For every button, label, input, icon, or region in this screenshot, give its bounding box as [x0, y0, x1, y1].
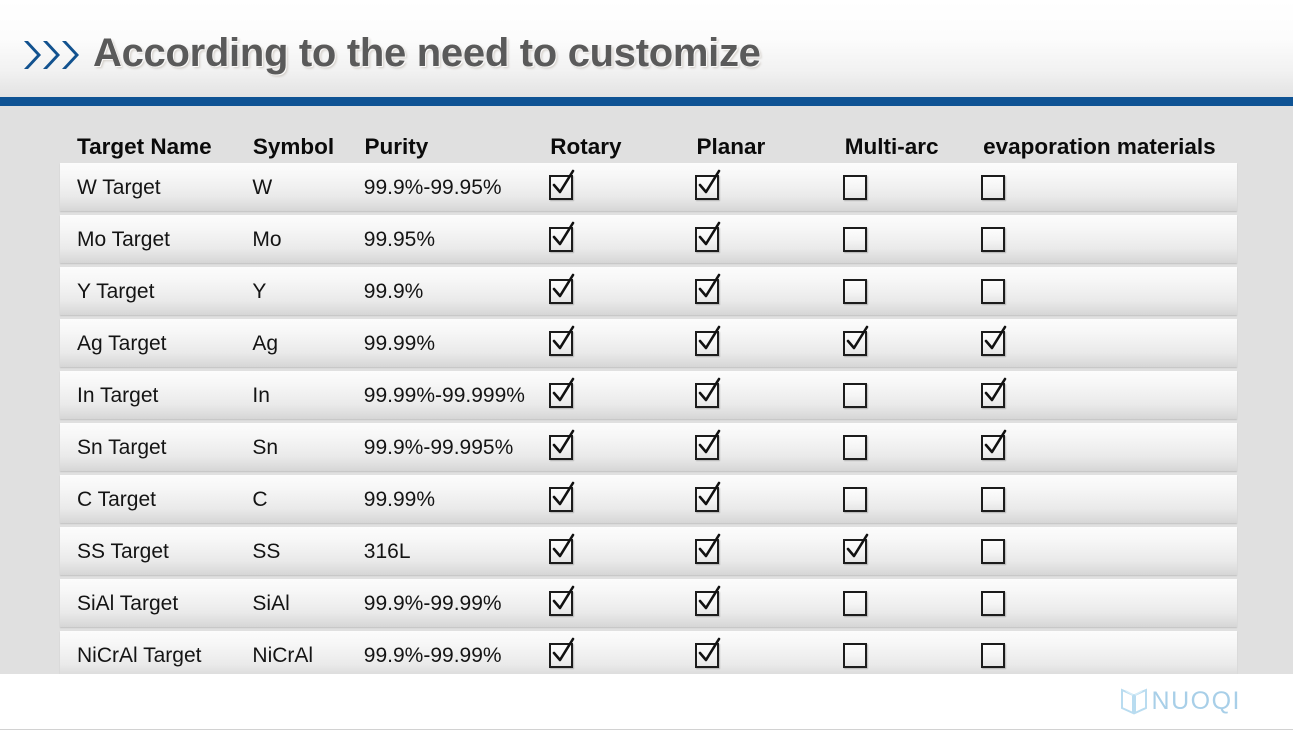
targets-table: Target Name Symbol Purity Rotary Planar …: [60, 118, 1240, 679]
checkbox-rotary[interactable]: [549, 383, 573, 408]
cell-target-name: Y Target: [77, 281, 252, 302]
cell-planar: [695, 539, 843, 564]
checkbox-multi-arc[interactable]: [843, 643, 867, 668]
cell-rotary: [549, 591, 695, 616]
check-mark-icon: [980, 429, 1010, 459]
cell-planar: [695, 279, 843, 304]
cell-planar: [695, 643, 843, 668]
cell-symbol: In: [252, 385, 363, 406]
cell-rotary: [549, 331, 695, 356]
cell-symbol: Ag: [252, 333, 363, 354]
cell-rotary: [549, 643, 695, 668]
cell-purity: 99.95%: [364, 229, 549, 250]
checkbox-planar[interactable]: [695, 487, 719, 512]
checkbox-planar[interactable]: [695, 435, 719, 460]
checkbox-evaporation-materials[interactable]: [981, 175, 1005, 200]
check-mark-icon: [548, 221, 578, 251]
cell-evaporation-materials: [981, 435, 1237, 460]
checkbox-planar[interactable]: [695, 643, 719, 668]
check-mark-icon: [548, 169, 578, 199]
checkbox-evaporation-materials[interactable]: [981, 383, 1005, 408]
checkbox-multi-arc[interactable]: [843, 331, 867, 356]
column-header-rotary: Rotary: [550, 136, 696, 159]
table-row[interactable]: NiCrAl TargetNiCrAl99.9%-99.99%: [60, 631, 1237, 679]
checkbox-multi-arc[interactable]: [843, 383, 867, 408]
cell-evaporation-materials: [981, 331, 1237, 356]
cell-target-name: Ag Target: [77, 333, 252, 354]
checkbox-evaporation-materials[interactable]: [981, 487, 1005, 512]
check-mark-icon: [694, 481, 724, 511]
column-header-symbol: Symbol: [253, 136, 365, 159]
column-header-multi-arc: Multi-arc: [845, 136, 983, 159]
cell-evaporation-materials: [981, 383, 1237, 408]
checkbox-rotary[interactable]: [549, 279, 573, 304]
cell-evaporation-materials: [981, 487, 1237, 512]
cell-multi-arc: [843, 279, 981, 304]
column-header-target-name: Target Name: [77, 136, 253, 159]
cell-target-name: In Target: [77, 385, 252, 406]
column-header-purity: Purity: [365, 136, 551, 159]
cell-multi-arc: [843, 539, 981, 564]
check-mark-icon: [694, 429, 724, 459]
header-title-group: According to the need to customize: [22, 31, 761, 76]
checkbox-rotary[interactable]: [549, 539, 573, 564]
cell-evaporation-materials: [981, 175, 1237, 200]
cell-evaporation-materials: [981, 643, 1237, 668]
cell-multi-arc: [843, 643, 981, 668]
cell-multi-arc: [843, 383, 981, 408]
nuoqi-logo: NUOQI: [1120, 686, 1241, 716]
checkbox-rotary[interactable]: [549, 591, 573, 616]
check-mark-icon: [694, 169, 724, 199]
cell-symbol: Y: [252, 281, 363, 302]
table-row[interactable]: Mo TargetMo99.95%: [60, 215, 1237, 263]
chevron-right-icon-3: [60, 38, 82, 72]
table-row[interactable]: SS TargetSS316L: [60, 527, 1237, 575]
check-mark-icon: [842, 325, 872, 355]
cell-target-name: NiCrAl Target: [77, 645, 252, 666]
cell-planar: [695, 227, 843, 252]
slide-footer: [0, 674, 1293, 730]
cell-target-name: C Target: [77, 489, 252, 510]
cell-purity: 99.9%-99.99%: [364, 645, 549, 666]
checkbox-rotary[interactable]: [549, 227, 573, 252]
cell-planar: [695, 331, 843, 356]
cell-evaporation-materials: [981, 539, 1237, 564]
checkbox-evaporation-materials[interactable]: [981, 591, 1005, 616]
cell-target-name: SS Target: [77, 541, 252, 562]
checkbox-evaporation-materials[interactable]: [981, 227, 1005, 252]
checkbox-planar[interactable]: [695, 383, 719, 408]
check-mark-icon: [548, 533, 578, 563]
check-mark-icon: [548, 273, 578, 303]
checkbox-rotary[interactable]: [549, 175, 573, 200]
cell-evaporation-materials: [981, 227, 1237, 252]
cell-symbol: SiAl: [252, 593, 363, 614]
check-mark-icon: [548, 585, 578, 615]
checkbox-rotary[interactable]: [549, 435, 573, 460]
cell-planar: [695, 435, 843, 460]
cell-purity: 99.9%-99.995%: [364, 437, 549, 458]
checkbox-evaporation-materials[interactable]: [981, 539, 1005, 564]
checkbox-rotary[interactable]: [549, 487, 573, 512]
table-row[interactable]: Ag TargetAg99.99%: [60, 319, 1237, 367]
cell-target-name: Sn Target: [77, 437, 252, 458]
checkbox-multi-arc[interactable]: [843, 435, 867, 460]
checkbox-planar[interactable]: [695, 175, 719, 200]
cell-purity: 99.99%-99.999%: [364, 385, 549, 406]
cell-symbol: SS: [252, 541, 363, 562]
cell-rotary: [549, 279, 695, 304]
table-row[interactable]: SiAl TargetSiAl99.9%-99.99%: [60, 579, 1237, 627]
checkbox-planar[interactable]: [695, 591, 719, 616]
checkbox-multi-arc[interactable]: [843, 487, 867, 512]
cell-planar: [695, 591, 843, 616]
table-header-row: Target Name Symbol Purity Rotary Planar …: [60, 118, 1240, 158]
checkbox-multi-arc[interactable]: [843, 539, 867, 564]
table-row[interactable]: W TargetW99.9%-99.95%: [60, 163, 1237, 211]
cell-target-name: W Target: [77, 177, 252, 198]
checkbox-rotary[interactable]: [549, 331, 573, 356]
cell-rotary: [549, 383, 695, 408]
cell-target-name: Mo Target: [77, 229, 252, 250]
cell-rotary: [549, 539, 695, 564]
cell-multi-arc: [843, 487, 981, 512]
checkbox-planar[interactable]: [695, 227, 719, 252]
checkbox-planar[interactable]: [695, 539, 719, 564]
checkbox-rotary[interactable]: [549, 643, 573, 668]
cell-symbol: C: [252, 489, 363, 510]
table-row[interactable]: Sn TargetSn99.9%-99.995%: [60, 423, 1237, 471]
checkbox-multi-arc[interactable]: [843, 227, 867, 252]
cell-planar: [695, 175, 843, 200]
header-accent-rule: [0, 97, 1293, 106]
cell-symbol: Mo: [252, 229, 363, 250]
cell-multi-arc: [843, 591, 981, 616]
checkbox-planar[interactable]: [695, 331, 719, 356]
check-mark-icon: [548, 481, 578, 511]
column-header-planar: Planar: [697, 136, 845, 159]
check-mark-icon: [980, 377, 1010, 407]
check-mark-icon: [694, 637, 724, 667]
checkbox-multi-arc[interactable]: [843, 175, 867, 200]
check-mark-icon: [694, 377, 724, 407]
open-book-mark-icon: [1120, 686, 1148, 716]
table-row[interactable]: In TargetIn99.99%-99.999%: [60, 371, 1237, 419]
checkbox-evaporation-materials[interactable]: [981, 331, 1005, 356]
checkbox-multi-arc[interactable]: [843, 591, 867, 616]
table-body: W TargetW99.9%-99.95%Mo TargetMo99.95%Y …: [60, 163, 1237, 679]
cell-rotary: [549, 227, 695, 252]
checkbox-evaporation-materials[interactable]: [981, 643, 1005, 668]
checkbox-multi-arc[interactable]: [843, 279, 867, 304]
cell-purity: 99.9%-99.99%: [364, 593, 549, 614]
cell-rotary: [549, 435, 695, 460]
cell-purity: 316L: [364, 541, 549, 562]
cell-multi-arc: [843, 227, 981, 252]
logo-text: NUOQI: [1152, 687, 1241, 716]
cell-multi-arc: [843, 175, 981, 200]
cell-purity: 99.99%: [364, 333, 549, 354]
check-mark-icon: [548, 325, 578, 355]
cell-planar: [695, 487, 843, 512]
table-row[interactable]: Y TargetY99.9%: [60, 267, 1237, 315]
cell-rotary: [549, 175, 695, 200]
chevron-double-right-icon: [22, 38, 79, 72]
page-title: According to the need to customize: [93, 31, 761, 76]
check-mark-icon: [694, 533, 724, 563]
column-header-evaporation-materials: evaporation materials: [983, 136, 1240, 159]
cell-target-name: SiAl Target: [77, 593, 252, 614]
cell-symbol: Sn: [252, 437, 363, 458]
cell-evaporation-materials: [981, 591, 1237, 616]
check-mark-icon: [694, 325, 724, 355]
cell-multi-arc: [843, 435, 981, 460]
cell-purity: 99.99%: [364, 489, 549, 510]
cell-purity: 99.9%-99.95%: [364, 177, 549, 198]
check-mark-icon: [694, 273, 724, 303]
check-mark-icon: [694, 221, 724, 251]
cell-evaporation-materials: [981, 279, 1237, 304]
check-mark-icon: [548, 377, 578, 407]
check-mark-icon: [694, 585, 724, 615]
checkbox-planar[interactable]: [695, 279, 719, 304]
cell-symbol: W: [252, 177, 363, 198]
check-mark-icon: [842, 533, 872, 563]
cell-planar: [695, 383, 843, 408]
check-mark-icon: [548, 429, 578, 459]
table-row[interactable]: C TargetC99.99%: [60, 475, 1237, 523]
slide-header: According to the need to customize: [0, 0, 1293, 97]
cell-rotary: [549, 487, 695, 512]
cell-multi-arc: [843, 331, 981, 356]
checkbox-evaporation-materials[interactable]: [981, 279, 1005, 304]
cell-symbol: NiCrAl: [252, 645, 363, 666]
checkbox-evaporation-materials[interactable]: [981, 435, 1005, 460]
check-mark-icon: [548, 637, 578, 667]
check-mark-icon: [980, 325, 1010, 355]
cell-purity: 99.9%: [364, 281, 549, 302]
